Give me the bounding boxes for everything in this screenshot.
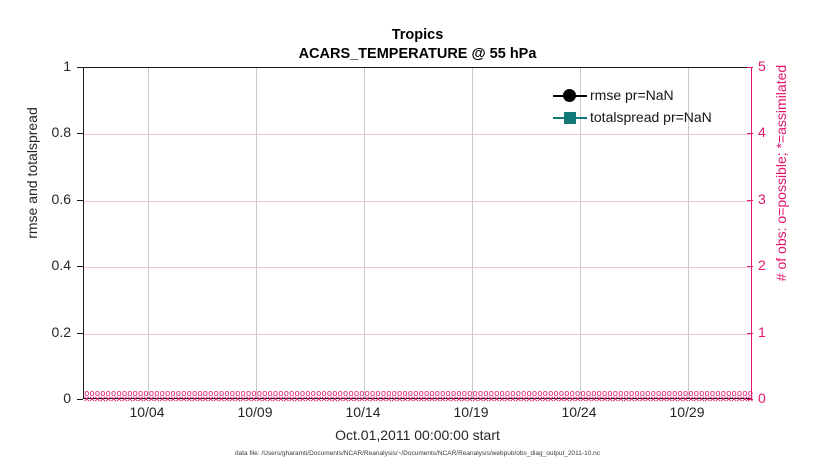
ytick-mark-left (77, 67, 83, 68)
obs-possible-marker: o (176, 390, 181, 399)
obs-possible-marker: o (348, 390, 353, 399)
obs-possible-marker: o (651, 390, 656, 399)
ytick-label-right: 5 (758, 58, 830, 74)
obs-possible-marker: o (726, 390, 731, 399)
obs-possible-marker: o (688, 390, 693, 399)
obs-possible-marker: o (607, 390, 612, 399)
obs-possible-marker: o (84, 390, 89, 399)
obs-possible-marker: o (381, 390, 386, 399)
obs-possible-marker: o (537, 390, 542, 399)
obs-assimilated-marker: ✕ (116, 396, 123, 405)
ytick-mark-right (747, 399, 753, 400)
obs-assimilated-marker: ✕ (321, 396, 328, 405)
obs-assimilated-marker: ✕ (623, 396, 630, 405)
ytick-mark-right (747, 333, 753, 334)
obs-assimilated-marker: ✕ (196, 396, 203, 405)
ytick-mark-right (747, 133, 753, 134)
obs-possible-marker: o (89, 390, 94, 399)
obs-assimilated-marker: ✕ (132, 396, 139, 405)
obs-assimilated-marker: ✕ (655, 396, 662, 405)
obs-possible-marker: o (295, 390, 300, 399)
obs-assimilated-marker: ✕ (385, 396, 392, 405)
gridline-horizontal (84, 201, 751, 202)
xtick-label: 10/14 (303, 404, 423, 420)
obs-possible-marker: o (305, 390, 310, 399)
obs-possible-marker: o (705, 390, 710, 399)
ytick-label-left: 0 (0, 390, 71, 406)
obs-assimilated-marker: ✕ (412, 396, 419, 405)
obs-assimilated-marker: ✕ (714, 396, 721, 405)
obs-possible-marker: o (160, 390, 165, 399)
obs-assimilated-marker: ✕ (304, 396, 311, 405)
obs-possible-marker: o (440, 390, 445, 399)
obs-assimilated-marker: ✕ (288, 396, 295, 405)
ytick-mark-left (77, 399, 83, 400)
circle-marker-icon (563, 89, 576, 102)
obs-assimilated-marker: ✕ (391, 396, 398, 405)
obs-possible-marker: o (489, 390, 494, 399)
obs-assimilated-marker: ✕ (725, 396, 732, 405)
gridline-vertical (256, 68, 257, 398)
ytick-label-right: 0 (758, 390, 830, 406)
obs-assimilated-marker: ✕ (175, 396, 182, 405)
obs-possible-marker: o (419, 390, 424, 399)
obs-possible-marker: o (165, 390, 170, 399)
obs-assimilated-marker: ✕ (423, 396, 430, 405)
obs-possible-marker: o (570, 390, 575, 399)
obs-possible-marker: o (699, 390, 704, 399)
gridline-horizontal (84, 267, 751, 268)
obs-assimilated-marker: ✕ (720, 396, 727, 405)
obs-assimilated-marker: ✕ (407, 396, 414, 405)
obs-possible-marker: o (386, 390, 391, 399)
obs-possible-marker: o (106, 390, 111, 399)
obs-assimilated-marker: ✕ (186, 396, 193, 405)
obs-assimilated-marker: ✕ (164, 396, 171, 405)
obs-possible-marker: o (721, 390, 726, 399)
ytick-mark-left (77, 200, 83, 201)
obs-assimilated-marker: ✕ (612, 396, 619, 405)
obs-possible-marker: o (737, 390, 742, 399)
figure-canvas: Tropics ACARS_TEMPERATURE @ 55 hPa o✕o✕o… (0, 0, 830, 470)
obs-possible-marker: o (510, 390, 515, 399)
obs-possible-marker: o (462, 390, 467, 399)
obs-assimilated-marker: ✕ (191, 396, 198, 405)
ytick-label-right: 2 (758, 257, 830, 273)
obs-assimilated-marker: ✕ (245, 396, 252, 405)
obs-assimilated-marker: ✕ (531, 396, 538, 405)
obs-possible-marker: o (332, 390, 337, 399)
obs-possible-marker: o (235, 390, 240, 399)
obs-possible-marker: o (138, 390, 143, 399)
obs-assimilated-marker: ✕ (596, 396, 603, 405)
obs-assimilated-marker: ✕ (202, 396, 209, 405)
obs-possible-marker: o (543, 390, 548, 399)
obs-possible-marker: o (526, 390, 531, 399)
obs-possible-marker: o (365, 390, 370, 399)
obs-possible-marker: o (300, 390, 305, 399)
square-marker-icon (564, 112, 576, 124)
obs-possible-marker: o (532, 390, 537, 399)
obs-assimilated-marker: ✕ (585, 396, 592, 405)
gridline-horizontal (84, 134, 751, 135)
obs-assimilated-marker: ✕ (283, 396, 290, 405)
obs-assimilated-marker: ✕ (337, 396, 344, 405)
obs-possible-marker: o (338, 390, 343, 399)
obs-possible-marker: o (715, 390, 720, 399)
obs-assimilated-marker: ✕ (342, 396, 349, 405)
obs-assimilated-marker: ✕ (272, 396, 279, 405)
obs-assimilated-marker: ✕ (660, 396, 667, 405)
obs-assimilated-marker: ✕ (542, 396, 549, 405)
obs-assimilated-marker: ✕ (223, 396, 230, 405)
ytick-mark-right (747, 266, 753, 267)
obs-possible-marker: o (667, 390, 672, 399)
obs-assimilated-marker: ✕ (326, 396, 333, 405)
obs-assimilated-marker: ✕ (628, 396, 635, 405)
obs-possible-marker: o (343, 390, 348, 399)
obs-assimilated-marker: ✕ (89, 396, 96, 405)
obs-assimilated-marker: ✕ (218, 396, 225, 405)
obs-assimilated-marker: ✕ (353, 396, 360, 405)
obs-assimilated-marker: ✕ (509, 396, 516, 405)
xtick-label: 10/19 (411, 404, 531, 420)
obs-possible-marker: o (311, 390, 316, 399)
obs-possible-marker: o (634, 390, 639, 399)
obs-possible-marker: o (375, 390, 380, 399)
obs-possible-marker: o (656, 390, 661, 399)
obs-assimilated-marker: ✕ (105, 396, 112, 405)
obs-possible-marker: o (732, 390, 737, 399)
obs-possible-marker: o (640, 390, 645, 399)
obs-possible-marker: o (203, 390, 208, 399)
obs-marker-row: o✕o✕o✕o✕o✕o✕o✕o✕o✕o✕o✕o✕o✕o✕o✕o✕o✕o✕o✕o✕… (84, 390, 753, 401)
obs-assimilated-marker: ✕ (553, 396, 560, 405)
obs-possible-marker: o (645, 390, 650, 399)
obs-possible-marker: o (241, 390, 246, 399)
obs-possible-marker: o (397, 390, 402, 399)
obs-assimilated-marker: ✕ (693, 396, 700, 405)
obs-assimilated-marker: ✕ (704, 396, 711, 405)
obs-assimilated-marker: ✕ (671, 396, 678, 405)
obs-assimilated-marker: ✕ (229, 396, 236, 405)
obs-assimilated-marker: ✕ (482, 396, 489, 405)
obs-possible-marker: o (187, 390, 192, 399)
obs-assimilated-marker: ✕ (520, 396, 527, 405)
obs-assimilated-marker: ✕ (526, 396, 533, 405)
ytick-mark-right (747, 67, 753, 68)
obs-assimilated-marker: ✕ (455, 396, 462, 405)
obs-assimilated-marker: ✕ (137, 396, 144, 405)
obs-possible-marker: o (521, 390, 526, 399)
obs-possible-marker: o (316, 390, 321, 399)
xtick-label: 10/04 (87, 404, 207, 420)
obs-possible-marker: o (208, 390, 213, 399)
obs-assimilated-marker: ✕ (644, 396, 651, 405)
obs-possible-marker: o (321, 390, 326, 399)
obs-assimilated-marker: ✕ (601, 396, 608, 405)
obs-assimilated-marker: ✕ (396, 396, 403, 405)
y-axis-label-left: rmse and totalspread (24, 23, 40, 323)
ytick-mark-left (77, 266, 83, 267)
obs-possible-marker: o (100, 390, 105, 399)
obs-assimilated-marker: ✕ (677, 396, 684, 405)
page-title: Tropics (83, 26, 752, 45)
obs-possible-marker: o (284, 390, 289, 399)
obs-possible-marker: o (661, 390, 666, 399)
ytick-mark-right (747, 200, 753, 201)
obs-possible-marker: o (149, 390, 154, 399)
legend-entry-totalspread[interactable]: totalspread pr=NaN (552, 106, 744, 128)
obs-assimilated-marker: ✕ (493, 396, 500, 405)
obs-possible-marker: o (553, 390, 558, 399)
obs-possible-marker: o (478, 390, 483, 399)
ytick-label-right: 3 (758, 191, 830, 207)
obs-assimilated-marker: ✕ (369, 396, 376, 405)
obs-assimilated-marker: ✕ (347, 396, 354, 405)
obs-possible-marker: o (613, 390, 618, 399)
obs-assimilated-marker: ✕ (315, 396, 322, 405)
obs-assimilated-marker: ✕ (434, 396, 441, 405)
obs-assimilated-marker: ✕ (477, 396, 484, 405)
ytick-mark-left (77, 133, 83, 134)
obs-assimilated-marker: ✕ (650, 396, 657, 405)
obs-possible-marker: o (451, 390, 456, 399)
obs-possible-marker: o (494, 390, 499, 399)
obs-possible-marker: o (192, 390, 197, 399)
obs-assimilated-marker: ✕ (110, 396, 117, 405)
obs-assimilated-marker: ✕ (428, 396, 435, 405)
obs-possible-marker: o (116, 390, 121, 399)
obs-assimilated-marker: ✕ (488, 396, 495, 405)
obs-possible-marker: o (602, 390, 607, 399)
ytick-mark-left (77, 333, 83, 334)
obs-assimilated-marker: ✕ (380, 396, 387, 405)
obs-possible-marker: o (710, 390, 715, 399)
obs-possible-marker: o (197, 390, 202, 399)
obs-possible-marker: o (435, 390, 440, 399)
obs-possible-marker: o (133, 390, 138, 399)
obs-assimilated-marker: ✕ (159, 396, 166, 405)
obs-assimilated-marker: ✕ (331, 396, 338, 405)
obs-possible-marker: o (413, 390, 418, 399)
obs-possible-marker: o (268, 390, 273, 399)
obs-possible-marker: o (678, 390, 683, 399)
gridline-horizontal (84, 334, 751, 335)
obs-assimilated-marker: ✕ (401, 396, 408, 405)
obs-assimilated-marker: ✕ (461, 396, 468, 405)
obs-possible-marker: o (402, 390, 407, 399)
obs-possible-marker: o (618, 390, 623, 399)
obs-possible-marker: o (559, 390, 564, 399)
gridline-vertical (472, 68, 473, 398)
obs-assimilated-marker: ✕ (666, 396, 673, 405)
obs-possible-marker: o (354, 390, 359, 399)
obs-possible-marker: o (181, 390, 186, 399)
obs-possible-marker: o (473, 390, 478, 399)
obs-assimilated-marker: ✕ (99, 396, 106, 405)
obs-possible-marker: o (500, 390, 505, 399)
obs-assimilated-marker: ✕ (94, 396, 101, 405)
obs-possible-marker: o (257, 390, 262, 399)
obs-possible-marker: o (624, 390, 629, 399)
obs-assimilated-marker: ✕ (299, 396, 306, 405)
obs-assimilated-marker: ✕ (639, 396, 646, 405)
obs-assimilated-marker: ✕ (499, 396, 506, 405)
data-file-caption: data file: /Users/gharamti/Documents/NCA… (83, 450, 752, 457)
obs-possible-marker: o (505, 390, 510, 399)
obs-possible-marker: o (629, 390, 634, 399)
obs-possible-marker: o (429, 390, 434, 399)
obs-possible-marker: o (95, 390, 100, 399)
obs-assimilated-marker: ✕ (563, 396, 570, 405)
obs-possible-marker: o (127, 390, 132, 399)
obs-possible-marker: o (597, 390, 602, 399)
obs-possible-marker: o (154, 390, 159, 399)
obs-possible-marker: o (224, 390, 229, 399)
obs-assimilated-marker: ✕ (277, 396, 284, 405)
obs-possible-marker: o (278, 390, 283, 399)
obs-assimilated-marker: ✕ (590, 396, 597, 405)
obs-assimilated-marker: ✕ (736, 396, 743, 405)
obs-assimilated-marker: ✕ (121, 396, 128, 405)
obs-possible-marker: o (456, 390, 461, 399)
obs-assimilated-marker: ✕ (547, 396, 554, 405)
obs-assimilated-marker: ✕ (207, 396, 214, 405)
obs-possible-marker: o (424, 390, 429, 399)
obs-assimilated-marker: ✕ (450, 396, 457, 405)
gridline-vertical (148, 68, 149, 398)
legend-sample-rmse (552, 85, 588, 105)
obs-possible-marker: o (262, 390, 267, 399)
obs-assimilated-marker: ✕ (515, 396, 522, 405)
obs-assimilated-marker: ✕ (569, 396, 576, 405)
obs-assimilated-marker: ✕ (698, 396, 705, 405)
obs-assimilated-marker: ✕ (267, 396, 274, 405)
obs-assimilated-marker: ✕ (240, 396, 247, 405)
obs-assimilated-marker: ✕ (445, 396, 452, 405)
obs-assimilated-marker: ✕ (617, 396, 624, 405)
obs-assimilated-marker: ✕ (153, 396, 160, 405)
obs-possible-marker: o (392, 390, 397, 399)
obs-assimilated-marker: ✕ (418, 396, 425, 405)
x-axis-label: Oct.01,2011 00:00:00 start (83, 427, 752, 443)
obs-assimilated-marker: ✕ (558, 396, 565, 405)
obs-possible-marker: o (289, 390, 294, 399)
obs-possible-marker: o (580, 390, 585, 399)
obs-possible-marker: o (170, 390, 175, 399)
obs-possible-marker: o (122, 390, 127, 399)
obs-assimilated-marker: ✕ (126, 396, 133, 405)
chart-title-block: Tropics ACARS_TEMPERATURE @ 55 hPa (83, 26, 752, 64)
obs-assimilated-marker: ✕ (83, 396, 90, 405)
obs-assimilated-marker: ✕ (536, 396, 543, 405)
obs-possible-marker: o (742, 390, 747, 399)
legend-label-rmse: rmse pr=NaN (588, 87, 674, 103)
obs-assimilated-marker: ✕ (213, 396, 220, 405)
obs-assimilated-marker: ✕ (294, 396, 301, 405)
obs-assimilated-marker: ✕ (261, 396, 268, 405)
obs-possible-marker: o (672, 390, 677, 399)
obs-possible-marker: o (591, 390, 596, 399)
obs-possible-marker: o (214, 390, 219, 399)
xtick-label: 10/29 (627, 404, 747, 420)
obs-assimilated-marker: ✕ (180, 396, 187, 405)
chart-subtitle: ACARS_TEMPERATURE @ 55 hPa (83, 45, 752, 64)
obs-assimilated-marker: ✕ (606, 396, 613, 405)
obs-possible-marker: o (516, 390, 521, 399)
obs-assimilated-marker: ✕ (731, 396, 738, 405)
obs-possible-marker: o (370, 390, 375, 399)
obs-possible-marker: o (408, 390, 413, 399)
obs-assimilated-marker: ✕ (439, 396, 446, 405)
chart-legend: rmse pr=NaN totalspread pr=NaN (552, 84, 744, 128)
obs-possible-marker: o (694, 390, 699, 399)
obs-possible-marker: o (483, 390, 488, 399)
obs-assimilated-marker: ✕ (310, 396, 317, 405)
ytick-label-right: 4 (758, 124, 830, 140)
legend-sample-totalspread (552, 107, 588, 127)
obs-possible-marker: o (246, 390, 251, 399)
legend-label-totalspread: totalspread pr=NaN (588, 109, 712, 125)
obs-possible-marker: o (548, 390, 553, 399)
obs-assimilated-marker: ✕ (709, 396, 716, 405)
xtick-label: 10/24 (519, 404, 639, 420)
obs-possible-marker: o (111, 390, 116, 399)
obs-possible-marker: o (273, 390, 278, 399)
y-axis-label-right: # of obs: o=possible; *=assimilated (773, 23, 789, 323)
obs-assimilated-marker: ✕ (504, 396, 511, 405)
ytick-label-left: 0.2 (0, 324, 71, 340)
obs-possible-marker: o (748, 390, 753, 399)
xtick-label: 10/09 (195, 404, 315, 420)
obs-assimilated-marker: ✕ (169, 396, 176, 405)
ytick-label-right: 1 (758, 324, 830, 340)
obs-assimilated-marker: ✕ (374, 396, 381, 405)
obs-possible-marker: o (230, 390, 235, 399)
obs-possible-marker: o (219, 390, 224, 399)
legend-entry-rmse[interactable]: rmse pr=NaN (552, 84, 744, 106)
obs-possible-marker: o (327, 390, 332, 399)
obs-possible-marker: o (446, 390, 451, 399)
obs-assimilated-marker: ✕ (633, 396, 640, 405)
obs-assimilated-marker: ✕ (234, 396, 241, 405)
obs-possible-marker: o (564, 390, 569, 399)
gridline-vertical (364, 68, 365, 398)
obs-possible-marker: o (586, 390, 591, 399)
